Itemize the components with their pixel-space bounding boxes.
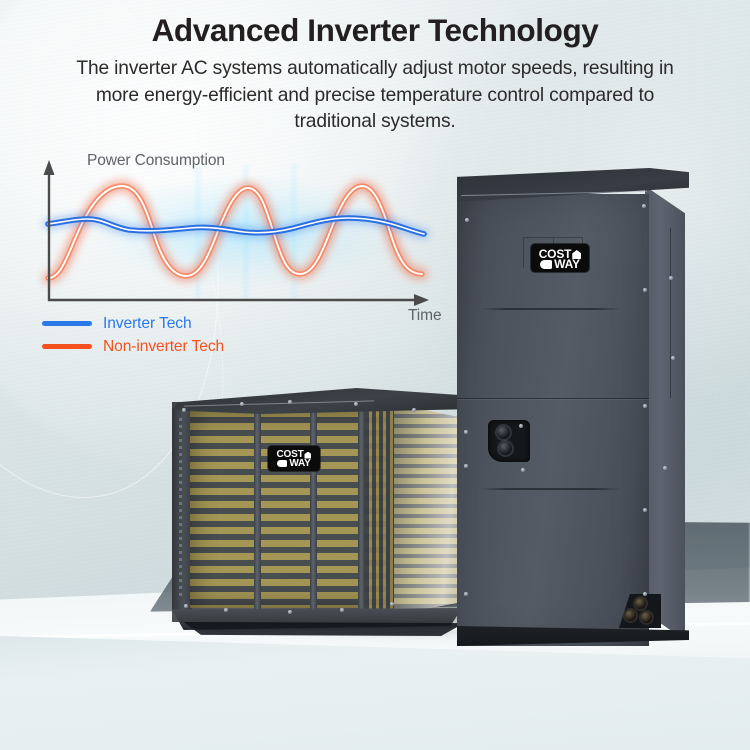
condenser-unit: COST WAY xyxy=(172,388,470,636)
condenser-base-shadow xyxy=(178,622,464,636)
screw-icon xyxy=(464,430,468,434)
air-handler-bottom-hole-1 xyxy=(635,598,646,609)
screw-icon xyxy=(521,468,525,472)
screw-icon xyxy=(519,424,523,428)
condenser-vertical-seam-3 xyxy=(358,406,365,612)
screw-icon xyxy=(663,466,667,470)
screw-icon xyxy=(224,608,228,612)
screw-icon xyxy=(669,276,673,280)
chart-y-axis-label: Power Consumption xyxy=(87,152,225,170)
screw-icon xyxy=(464,464,468,468)
product-marketing-image: Advanced Inverter Technology The inverte… xyxy=(0,0,750,750)
screw-icon xyxy=(240,402,244,406)
screw-icon xyxy=(643,288,647,292)
costway-logo-row-bottom: WAY xyxy=(531,258,589,270)
legend-swatch-non-inverter-tech xyxy=(42,344,92,349)
screw-icon xyxy=(465,218,469,222)
screw-icon xyxy=(412,408,416,412)
air-handler-side-panel xyxy=(645,186,685,640)
air-handler-crease-lower xyxy=(481,488,621,490)
air-handler-brand-badge: COST WAY xyxy=(531,244,589,272)
condenser-brand-badge: COST WAY xyxy=(268,446,320,471)
air-handler-port-hole-lower xyxy=(499,442,512,455)
screw-icon xyxy=(642,204,646,208)
costway-logo-row-bottom: WAY xyxy=(268,459,320,469)
screw-icon xyxy=(340,608,344,612)
legend-item-non-inverter-tech: Non-inverter Tech xyxy=(42,335,224,358)
pill-mark-icon xyxy=(540,260,552,269)
costway-logo: COST WAY xyxy=(268,446,320,471)
chart-legend: Inverter Tech Non-inverter Tech xyxy=(42,312,224,358)
air-handler-bottom-hole-2 xyxy=(625,610,636,621)
screw-icon xyxy=(182,408,186,412)
legend-label-inverter-tech: Inverter Tech xyxy=(103,315,192,333)
screw-icon xyxy=(288,400,292,404)
screw-icon xyxy=(288,610,292,614)
air-handler-base xyxy=(457,626,689,646)
screw-icon xyxy=(643,404,647,408)
screw-icon xyxy=(671,356,675,360)
legend-item-inverter-tech: Inverter Tech xyxy=(42,312,224,335)
air-handler-crease-upper xyxy=(481,308,621,310)
costway-logo-word-way: WAY xyxy=(289,459,310,469)
condenser-front-grille xyxy=(172,402,394,622)
chart-x-axis-label: Time xyxy=(408,307,441,325)
screw-icon xyxy=(184,604,188,608)
condenser-corner-coil xyxy=(365,408,394,610)
legend-label-non-inverter-tech: Non-inverter Tech xyxy=(103,338,224,356)
pill-mark-icon xyxy=(277,460,287,467)
condenser-vertical-seam-2 xyxy=(310,406,317,612)
legend-swatch-inverter-tech xyxy=(42,321,92,326)
screw-icon xyxy=(390,602,394,606)
page-subtitle: The inverter AC systems automatically ad… xyxy=(65,56,685,136)
air-handler-side-seam xyxy=(670,228,671,398)
air-handler-panel-seam-upper xyxy=(457,398,649,399)
air-handler-unit: COST WAY xyxy=(457,168,685,646)
screw-icon xyxy=(354,402,358,406)
costway-logo: COST WAY xyxy=(531,244,589,272)
condenser-vertical-seam-1 xyxy=(254,406,261,612)
page-title: Advanced Inverter Technology xyxy=(0,10,750,50)
air-handler-refrigerant-port xyxy=(488,420,530,462)
screw-icon xyxy=(643,508,647,512)
air-handler-bottom-hole-3 xyxy=(641,612,652,623)
power-consumption-chart: Power Consumption Time Inverter Tech Non… xyxy=(30,152,450,370)
air-handler-port-plate xyxy=(488,420,530,462)
condenser-louvers xyxy=(190,410,386,608)
costway-logo-word-way: WAY xyxy=(554,258,580,270)
screw-icon xyxy=(643,592,647,596)
heading-block: Advanced Inverter Technology The inverte… xyxy=(0,10,750,136)
condenser-left-corner-strip xyxy=(172,408,192,610)
air-handler-port-hole-upper xyxy=(497,426,510,439)
screw-icon xyxy=(464,592,468,596)
